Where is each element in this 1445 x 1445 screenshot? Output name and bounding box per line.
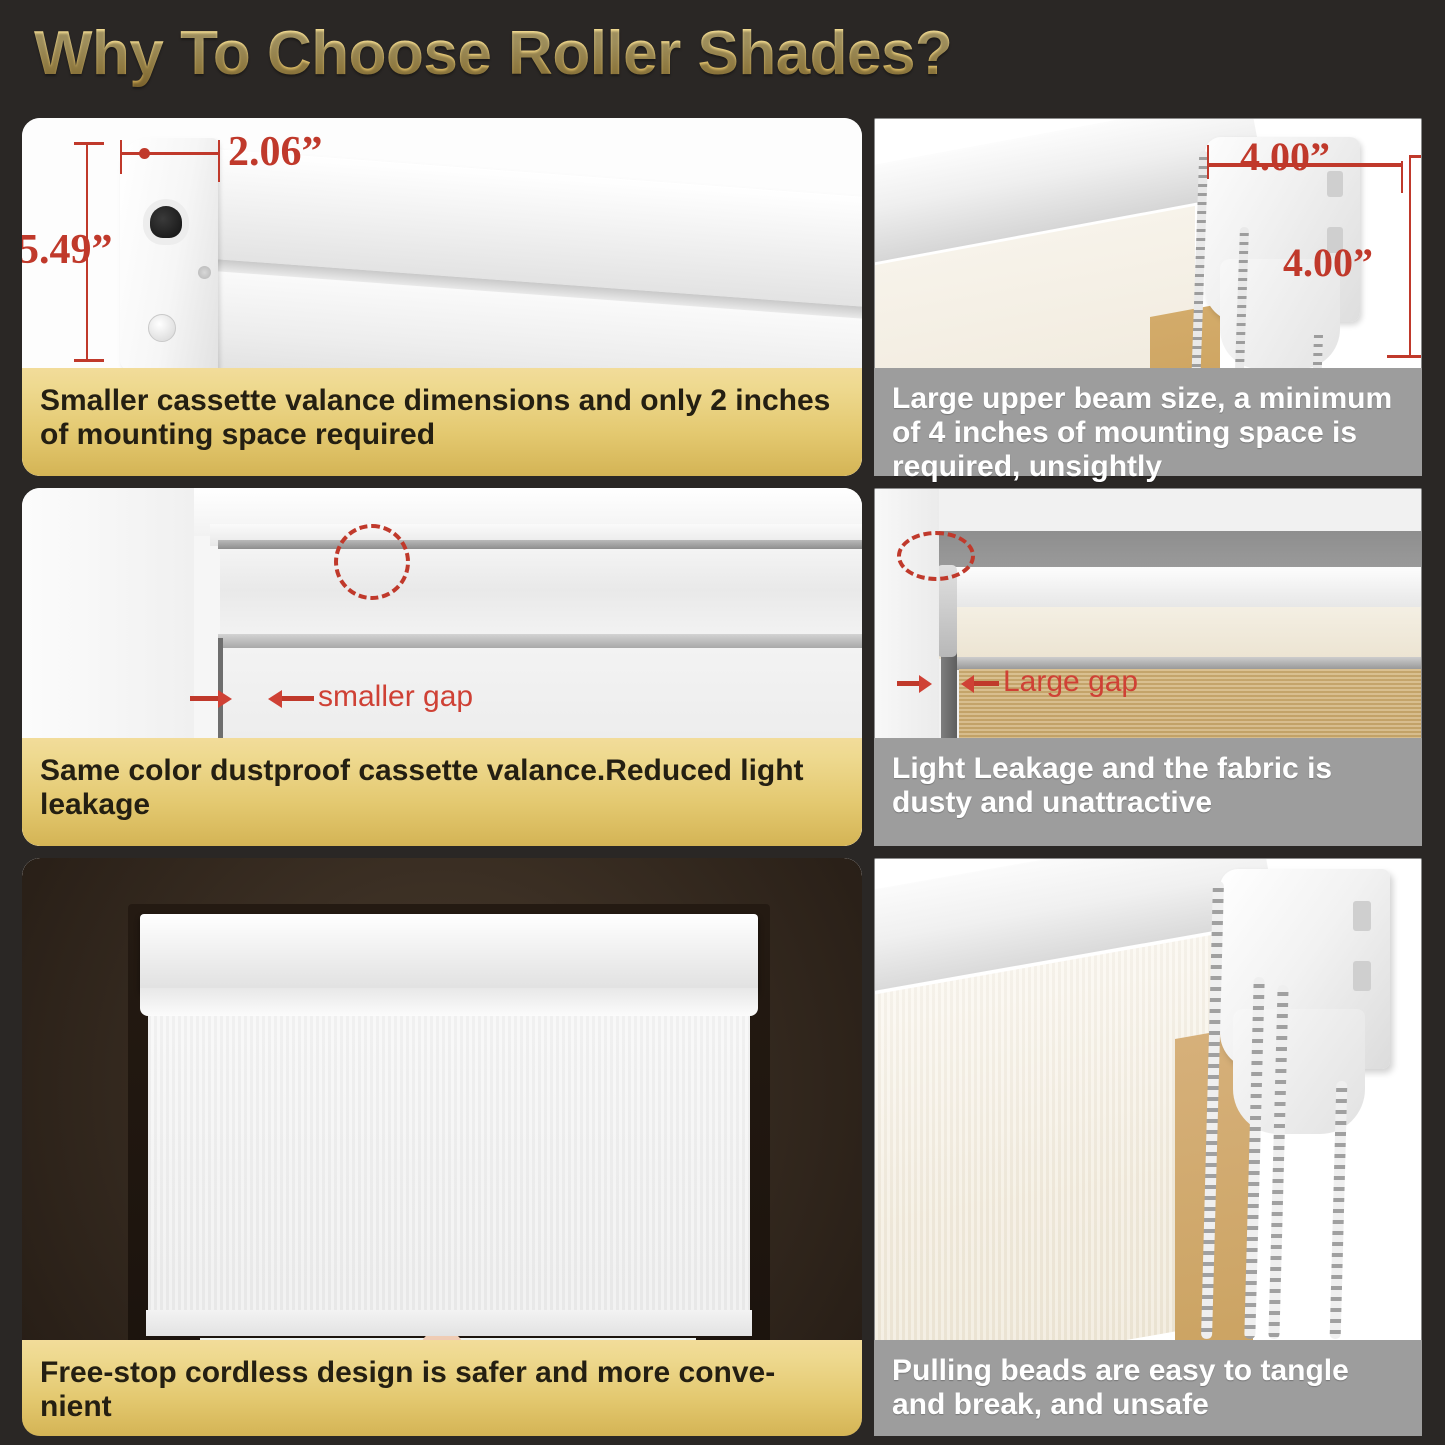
comparison-grid: 2.06” 5.49” Smaller cassette valance dim…: [0, 112, 1445, 1445]
panel-light-leakage: Large gap Light Leakage and the fabric i…: [874, 488, 1422, 846]
gap-label: smaller gap: [318, 680, 473, 714]
valance-slot-icon: [150, 206, 182, 238]
highlight-circle-icon: [334, 524, 410, 600]
dimension-label-width: 2.06”: [228, 128, 323, 176]
dimension-label-height: 4.00”: [1283, 239, 1373, 286]
panel-4-caption: Light Leakage and the fabric is dusty an…: [874, 738, 1422, 846]
panel-smaller-cassette: 2.06” 5.49” Smaller cassette valance dim…: [22, 118, 862, 476]
gap-label: Large gap: [1003, 665, 1138, 699]
title-bar: Why To Choose Roller Shades?: [0, 0, 1445, 112]
dimension-label-height: 5.49”: [22, 226, 113, 274]
panel-3-caption: Same color dustproof cassette valance.Re…: [22, 738, 862, 846]
panel-pulling-beads: Pulling beads are easy to tangle and bre…: [874, 858, 1422, 1436]
page-title: Why To Choose Roller Shades?: [34, 18, 952, 89]
dimension-label-width: 4.00”: [1240, 133, 1330, 180]
panel-2-caption: Large upper beam size, a minimum of 4 in…: [874, 368, 1422, 476]
panel-5-caption: Free-stop cordless design is safer and m…: [22, 1340, 862, 1436]
panel-6-caption: Pulling beads are easy to tangle and bre…: [874, 1340, 1422, 1436]
panel-cordless-design: Free-stop cordless design is safer and m…: [22, 858, 862, 1436]
highlight-circle-icon: [897, 531, 975, 581]
panel-dustproof-valance: smaller gap Same color dustproof cassett…: [22, 488, 862, 846]
panel-1-caption: Smaller cassette valance dimensions and …: [22, 368, 862, 476]
panel-large-beam: 4.00” 4.00” Large upper beam size, a min…: [874, 118, 1422, 476]
